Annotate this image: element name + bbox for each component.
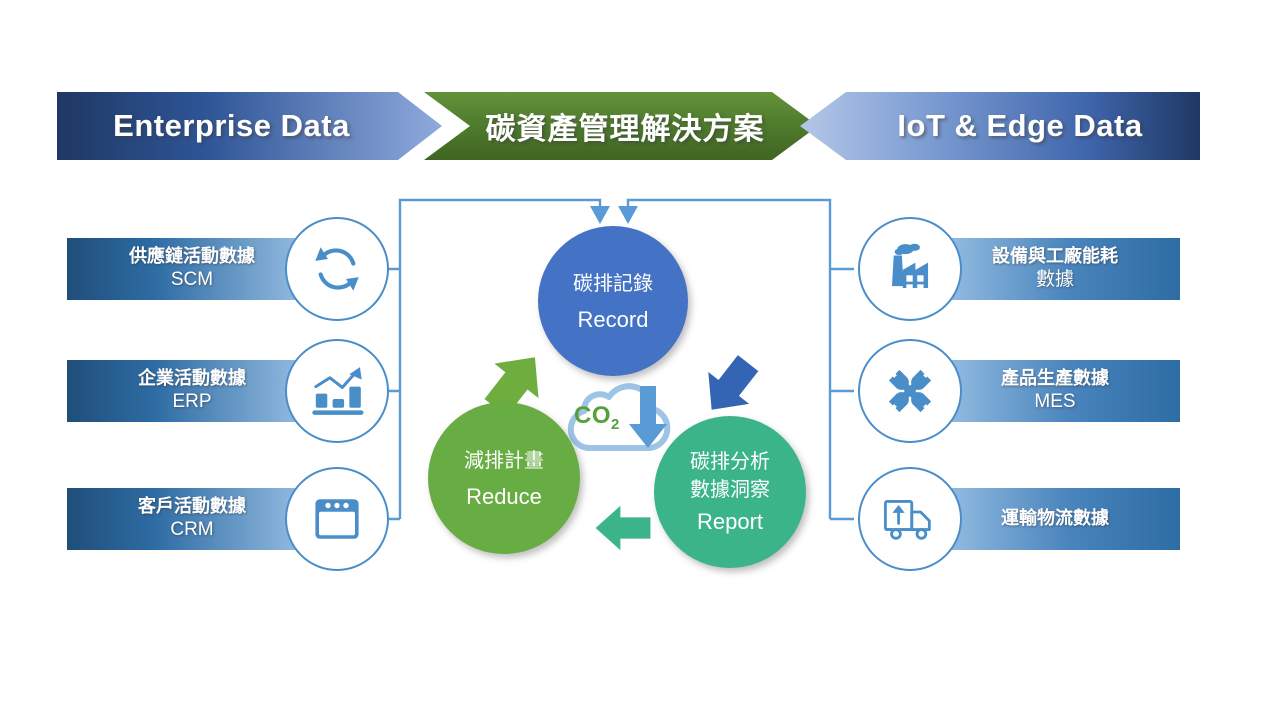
browser-window-icon <box>285 467 389 571</box>
cycle-node-report-cn1: 碳排分析 <box>690 449 770 477</box>
report-to-reduce-arrow <box>592 500 654 556</box>
source-card-scm-title: 供應鏈活動數據 <box>129 246 255 268</box>
cycle-node-record-en: Record <box>578 307 649 333</box>
source-card-erp-plate: 企業活動數據 ERP <box>67 360 317 422</box>
record-to-report-arrow <box>694 348 768 422</box>
source-card-mes-code: MES <box>1034 390 1075 413</box>
connector-arrowhead-right <box>618 206 638 224</box>
source-card-mes[interactable]: 產品生產數據 MES <box>858 360 1180 422</box>
connector-arrowhead-left <box>590 206 610 224</box>
source-card-crm-title: 客戶活動數據 <box>138 496 246 518</box>
crossed-wrenches-icon <box>858 339 962 443</box>
cycle-node-report-cn2: 數據洞察 <box>690 477 770 505</box>
source-card-factory-plate: 設備與工廠能耗 數據 <box>930 238 1180 300</box>
source-card-factory-code: 數據 <box>1036 268 1074 291</box>
source-card-crm-code: CRM <box>170 518 213 541</box>
source-card-scm[interactable]: 供應鏈活動數據 SCM <box>67 238 389 300</box>
source-card-crm[interactable]: 客戶活動數據 CRM <box>67 488 389 550</box>
down-arrow-icon <box>626 382 670 452</box>
source-card-mes-title: 產品生產數據 <box>1001 368 1109 390</box>
cycle-node-reduce-cn: 減排計畫 <box>464 447 544 476</box>
source-card-erp-title: 企業活動數據 <box>138 368 246 390</box>
source-card-factory[interactable]: 設備與工廠能耗 數據 <box>858 238 1180 300</box>
source-card-crm-plate: 客戶活動數據 CRM <box>67 488 317 550</box>
source-card-logistics[interactable]: 運輸物流數據 <box>858 488 1180 550</box>
source-card-factory-title: 設備與工廠能耗 <box>992 246 1118 268</box>
source-card-mes-plate: 產品生產數據 MES <box>930 360 1180 422</box>
co2-cloud: CO2 <box>556 378 686 456</box>
source-card-scm-plate: 供應鏈活動數據 SCM <box>67 238 317 300</box>
bar-chart-trend-icon <box>285 339 389 443</box>
cycle-node-reduce[interactable]: 減排計畫 Reduce <box>428 402 580 554</box>
source-card-erp-code: ERP <box>172 390 211 413</box>
cycle-node-report-en: Report <box>697 509 763 535</box>
cycle-node-report[interactable]: 碳排分析 數據洞察 Report <box>654 416 806 568</box>
source-card-logistics-title: 運輸物流數據 <box>1001 508 1109 530</box>
cycle-node-record[interactable]: 碳排記錄 Record <box>538 226 688 376</box>
source-card-erp[interactable]: 企業活動數據 ERP <box>67 360 389 422</box>
factory-icon <box>858 217 962 321</box>
source-card-logistics-plate: 運輸物流數據 <box>930 488 1180 550</box>
source-card-scm-code: SCM <box>171 268 213 291</box>
cycle-node-record-cn: 碳排記錄 <box>573 270 653 299</box>
sync-arrows-icon <box>285 217 389 321</box>
diagram-canvas: Enterprise Data 碳資產管理解決方案 IoT & Edge Dat… <box>0 0 1280 720</box>
cycle-node-reduce-en: Reduce <box>466 484 542 510</box>
co2-label: CO2 <box>574 402 620 433</box>
delivery-truck-icon <box>858 467 962 571</box>
